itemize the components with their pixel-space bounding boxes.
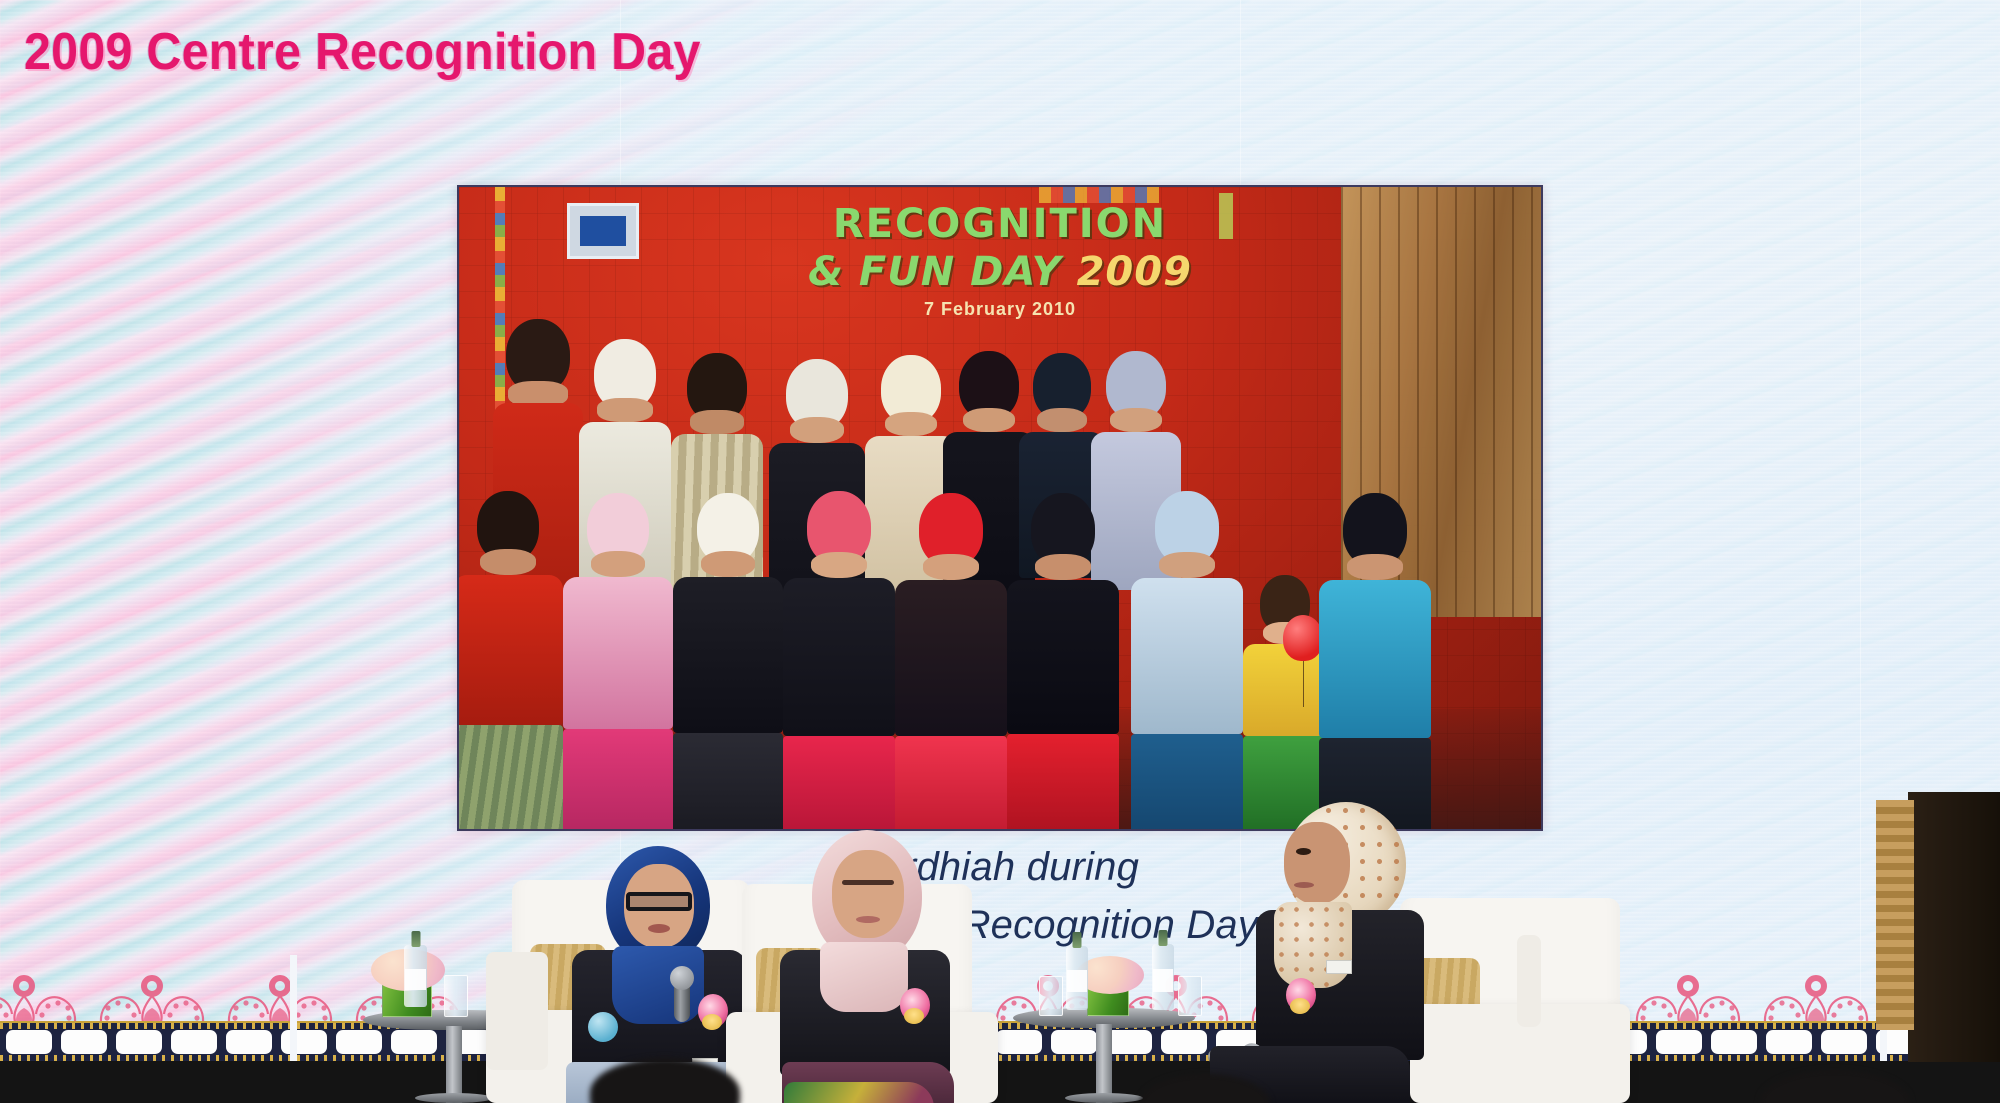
photo-wall-picture-frame	[567, 203, 639, 259]
panelist-left-microphone[interactable]	[674, 978, 690, 1022]
film-frame	[1766, 1030, 1812, 1054]
stage-floor	[0, 1061, 2000, 1103]
photo-person	[895, 493, 1007, 813]
film-frame	[6, 1030, 52, 1054]
photo-person	[1007, 493, 1119, 811]
panelist-right-name-badge	[1326, 960, 1352, 974]
panelist-left-brooch	[588, 1012, 618, 1042]
panelist-right	[1256, 802, 1448, 1103]
panelist-centre-face	[832, 850, 904, 938]
photo-person	[673, 493, 783, 811]
decorative-border-band	[0, 955, 2000, 1063]
slide-group-photo: RECOGNITION & FUN DAY 2009 7 February 20…	[457, 185, 1543, 831]
film-frame	[281, 1030, 327, 1054]
photo-balloon-marker	[1219, 193, 1233, 239]
photo-person	[563, 493, 673, 809]
panelist-centre-corsage	[900, 988, 930, 1022]
film-frame	[1656, 1030, 1702, 1054]
presentation-stage-scene: 2009 Centre Recognition Day RECOGNITION …	[0, 0, 2000, 1103]
film-frame	[1711, 1030, 1757, 1054]
film-strip-gap	[290, 955, 297, 1063]
photo-red-balloon	[1283, 615, 1323, 661]
panelist-right-face	[1284, 822, 1350, 904]
film-frame	[61, 1030, 107, 1054]
water-glass-left	[444, 975, 468, 1017]
panelist-centre-batik-skirt	[784, 1082, 934, 1103]
photo-person	[1131, 491, 1243, 809]
slide-title: 2009 Centre Recognition Day	[24, 22, 701, 82]
side-table-right-base	[1065, 1093, 1143, 1103]
panelist-left-glasses	[626, 892, 692, 911]
panelist-centre-brow	[842, 880, 894, 885]
panelist-left-corsage	[698, 994, 728, 1028]
film-strip-frames	[0, 1030, 2000, 1054]
panelist-right-scarf-pattern	[1274, 902, 1352, 988]
screen-panel-seam	[1860, 0, 1861, 1103]
panelist-centre-mouth	[856, 916, 880, 923]
stage-wing-right-panel	[1876, 800, 1914, 1030]
photo-person	[783, 491, 895, 813]
water-bottle-right-a	[1066, 946, 1088, 1010]
water-bottle-right-b	[1152, 944, 1174, 1010]
water-glass-right-a	[1039, 976, 1063, 1016]
stage-wing-right	[1908, 792, 2000, 1062]
panelist-left-mouth	[648, 924, 670, 933]
sofa-right-arm	[1517, 935, 1541, 1027]
side-table-left-stem	[446, 1026, 462, 1103]
film-strip-band	[0, 1021, 2000, 1063]
film-frame	[171, 1030, 217, 1054]
photo-streamer	[1039, 187, 1159, 203]
side-table-left-base	[415, 1093, 493, 1103]
film-frame	[1821, 1030, 1867, 1054]
film-frame	[226, 1030, 272, 1054]
water-bottle-left	[404, 945, 427, 1007]
film-frame	[116, 1030, 162, 1054]
side-table-right-stem	[1096, 1024, 1112, 1103]
panelist-right-corsage	[1286, 978, 1316, 1012]
photo-person	[1319, 493, 1431, 811]
film-strip-top-dots	[0, 1023, 2000, 1029]
panelist-right-eye	[1296, 848, 1311, 855]
photo-child	[1243, 575, 1327, 807]
panelist-right-mouth	[1294, 882, 1314, 888]
photo-person	[457, 491, 563, 801]
panelist-centre-scarf-drape	[820, 942, 908, 1012]
panelist-centre	[776, 830, 952, 1103]
water-glass-right-b	[1178, 976, 1202, 1016]
sofa-left-arm	[486, 952, 548, 1070]
